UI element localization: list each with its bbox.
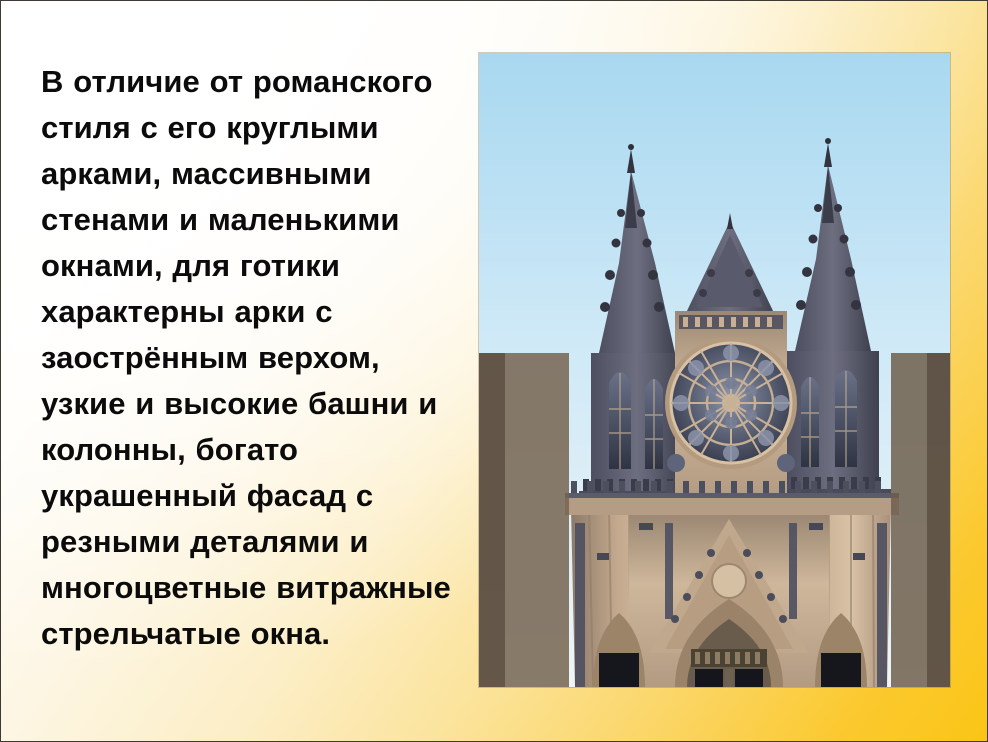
slide-body-text: В отличие от романского стиля с его круг… [41, 59, 461, 657]
slide-text-block: В отличие от романского стиля с его круг… [41, 59, 461, 657]
rose-window [665, 337, 797, 469]
presentation-slide: В отличие от романского стиля с его круг… [0, 0, 988, 742]
cathedral-photo [479, 53, 950, 687]
cathedral-photo-illustration [479, 53, 950, 687]
